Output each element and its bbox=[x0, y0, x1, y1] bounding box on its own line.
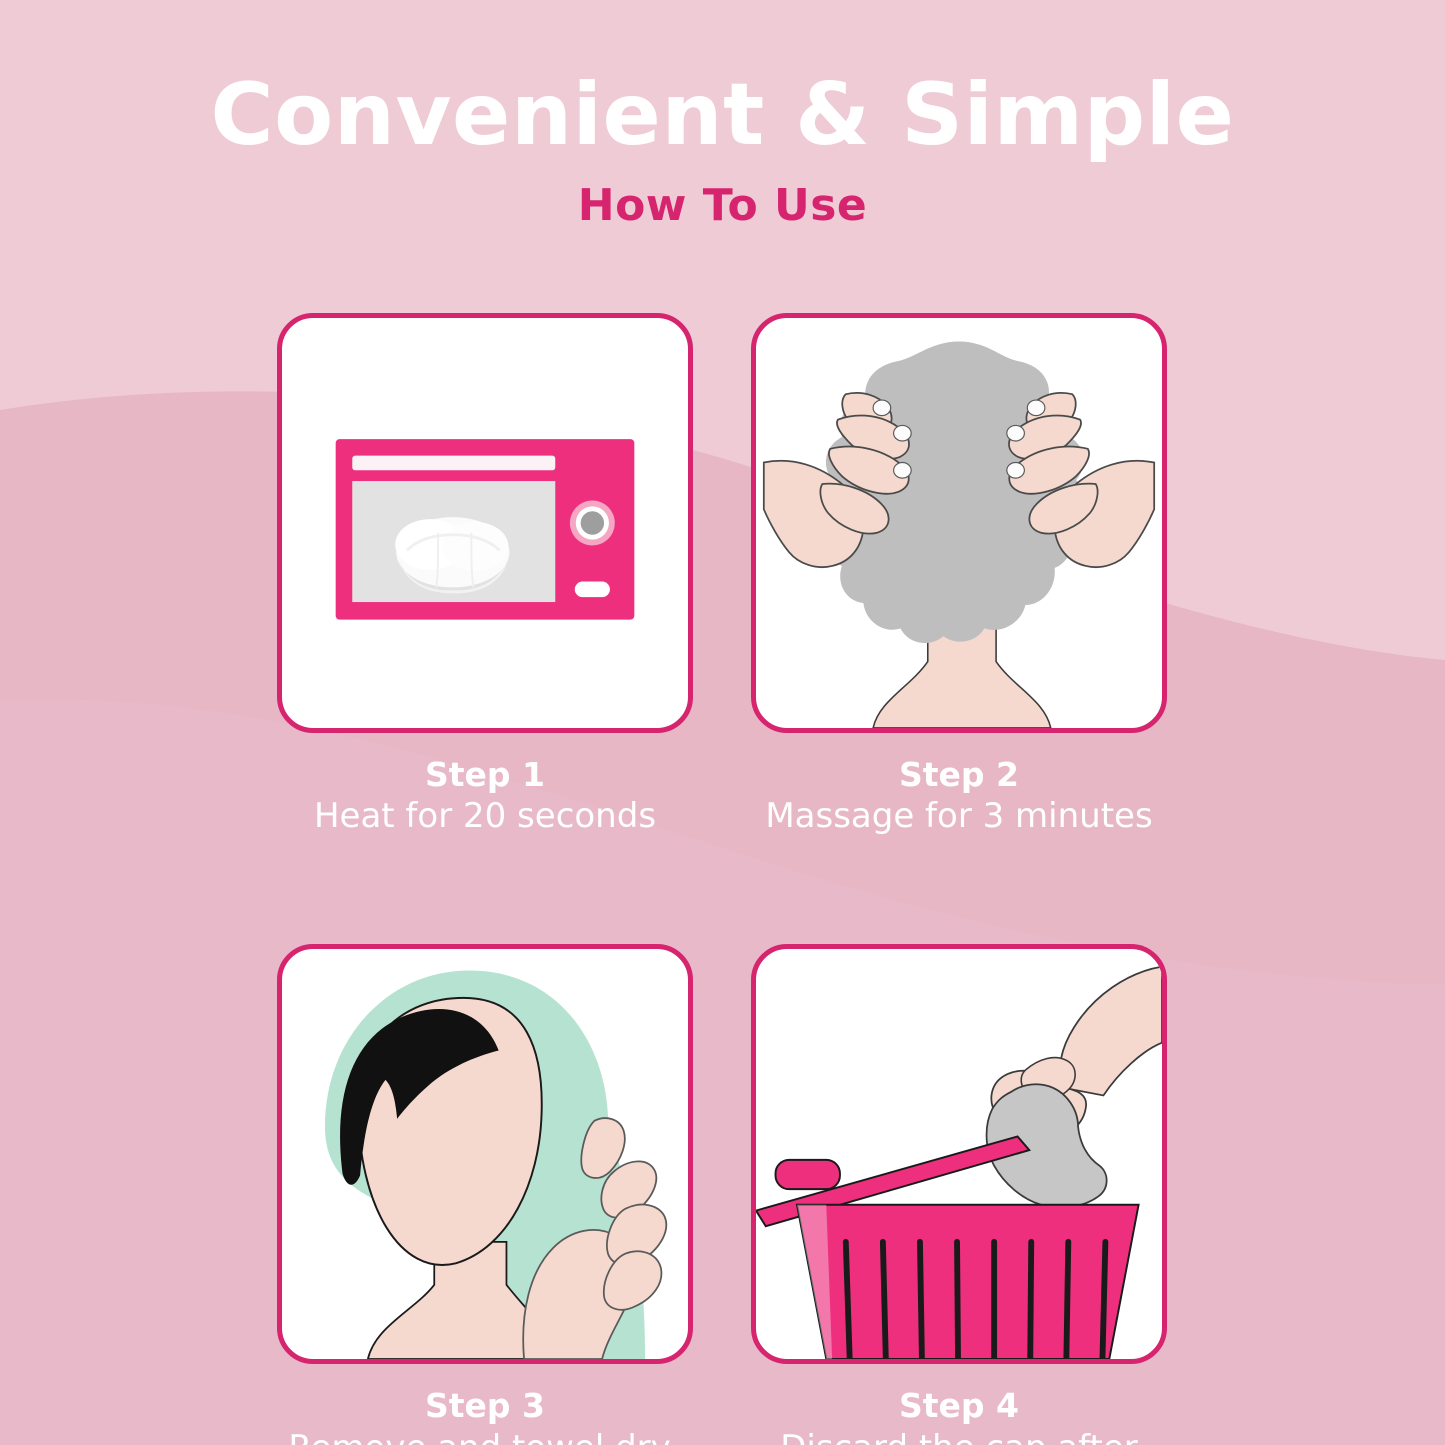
step-2-illustration-card bbox=[751, 313, 1167, 733]
step-3-description: Remove and towel dry, no need to rinse bbox=[277, 1429, 693, 1445]
microwave-with-cap-icon bbox=[282, 318, 688, 728]
infographic-stage: Convenient & Simple How To Use bbox=[0, 0, 1445, 1445]
step-3-label: Step 3 bbox=[277, 1388, 693, 1424]
step-3-illustration-card bbox=[277, 944, 693, 1364]
step-1-label: Step 1 bbox=[277, 757, 693, 793]
step-4-description: Discard the cap after use, do not flush bbox=[751, 1429, 1167, 1445]
step-1-illustration-card bbox=[277, 313, 693, 733]
step-1-description: Heat for 20 seconds bbox=[277, 797, 693, 835]
step-1-caption: Step 1 Heat for 20 seconds bbox=[277, 757, 693, 835]
steps-row-1: Step 1 Heat for 20 seconds bbox=[277, 313, 1167, 835]
step-4-label: Step 4 bbox=[751, 1388, 1167, 1424]
hand-discard-cap-bin-icon bbox=[756, 949, 1162, 1359]
step-2-caption: Step 2 Massage for 3 minutes bbox=[751, 757, 1167, 835]
hands-massaging-head-icon bbox=[756, 318, 1162, 728]
step-2-description: Massage for 3 minutes bbox=[751, 797, 1167, 835]
step-4-illustration-card bbox=[751, 944, 1167, 1364]
step-card-2: Step 2 Massage for 3 minutes bbox=[751, 313, 1167, 835]
step-card-4: Step 4 Discard the cap after use, do not… bbox=[751, 944, 1167, 1445]
page-title: Convenient & Simple bbox=[0, 72, 1445, 158]
steps-row-2: Step 3 Remove and towel dry, no need to … bbox=[277, 944, 1167, 1445]
steps-grid: Step 1 Heat for 20 seconds bbox=[277, 313, 1167, 1445]
page-subtitle: How To Use bbox=[0, 180, 1445, 231]
header: Convenient & Simple How To Use bbox=[0, 0, 1445, 231]
person-towel-dry-icon bbox=[282, 949, 688, 1359]
step-card-3: Step 3 Remove and towel dry, no need to … bbox=[277, 944, 693, 1445]
step-3-caption: Step 3 Remove and towel dry, no need to … bbox=[277, 1388, 693, 1445]
step-4-caption: Step 4 Discard the cap after use, do not… bbox=[751, 1388, 1167, 1445]
step-2-label: Step 2 bbox=[751, 757, 1167, 793]
step-card-1: Step 1 Heat for 20 seconds bbox=[277, 313, 693, 835]
